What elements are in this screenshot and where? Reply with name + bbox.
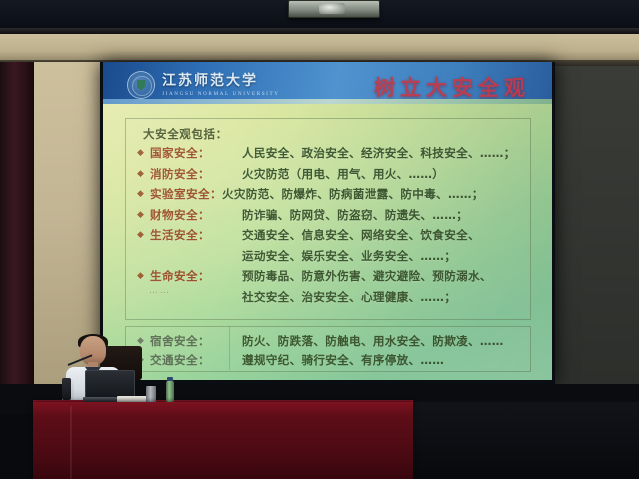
university-name-cn: 江苏师范大学 [162,74,280,89]
item-desc: 防诈骗、防网贷、防盗窃、防遗失、……； [242,206,468,225]
item-desc: 交通安全、信息安全、网络安全、饮食安全、 [242,226,480,245]
item-term: 国家安全： [150,144,242,163]
list-item: ◆ 国家安全： 人民安全、政治安全、经济安全、科技安全、……； [137,144,527,163]
list-item: ◆ 消防安全： 火灾防范（用电、用气、用火、……） [137,165,527,184]
diamond-bullet-icon: ◆ [137,185,150,204]
item-term: 交通安全： [150,351,242,370]
list-item: ◆ 生活安全： 交通安全、信息安全、网络安全、饮食安全、 [137,226,527,245]
item-term: 财物安全： [150,206,242,225]
slide-title: 树立大安全观 [374,72,530,102]
item-desc: 火灾防范（用电、用气、用火、……） [242,165,444,184]
list-item: ◆ 财物安全： 防诈骗、防网贷、防盗窃、防遗失、……； [137,206,527,225]
shield-icon [137,80,146,91]
right-wall-panel [555,66,639,406]
list-item-continuation: 运动安全、娱乐安全、业务安全、……； [137,247,527,266]
trailing-ellipsis: …… [149,286,171,296]
lecture-hall-photo: 江苏师范大学 JIANGSU NORMAL UNIVERSITY 树立大安全观 … [0,0,639,479]
diamond-bullet-icon: ◆ [137,144,150,163]
item-term: 消防安全： [150,165,242,184]
projected-slide: 江苏师范大学 JIANGSU NORMAL UNIVERSITY 树立大安全观 … [103,62,552,380]
university-emblem-icon [127,71,155,99]
slide-header-band: 江苏师范大学 JIANGSU NORMAL UNIVERSITY 树立大安全观 [103,62,552,104]
item-desc-cont: 运动安全、娱乐安全、业务安全、……； [242,247,456,266]
diamond-bullet-icon: ◆ [137,226,150,245]
slide-lead-text: 大安全观包括： [143,126,228,142]
item-desc-cont: 社交安全、治安安全、心理健康、……； [242,288,456,307]
upper-wall-band [0,34,639,62]
item-desc: 预防毒品、防意外伤害、避灾避险、预防溺水、 [242,267,492,286]
microphone-base [62,378,71,400]
item-desc: 遵规守纪、骑行安全、有序停放、…… [242,351,444,370]
left-curtain [0,62,34,414]
sub-safety-item-list: ◆ 宿舍安全： 防火、防跌落、防触电、用水安全、防欺凌、…… ◆ 交通安全： 遵… [137,332,527,370]
list-item-continuation: 社交安全、治安安全、心理健康、……； [137,288,527,307]
item-desc: 火灾防范、防爆炸、防病菌泄露、防中毒、……； [222,185,484,204]
list-item: ◆ 交通安全： 遵规守纪、骑行安全、有序停放、…… [137,351,527,370]
item-term: 生命安全： [150,267,242,286]
safety-item-list: ◆ 国家安全： 人民安全、政治安全、经济安全、科技安全、……； ◆ 消防安全： … [137,144,527,308]
tablecloth-fold [70,406,72,479]
university-name-en: JIANGSU NORMAL UNIVERSITY [162,91,280,97]
item-desc: 人民安全、政治安全、经济安全、科技安全、……； [242,144,516,163]
laptop-screen [85,370,135,399]
item-term: 生活安全： [150,226,242,245]
diamond-bullet-icon: ◆ [137,267,150,286]
diamond-bullet-icon: ◆ [137,165,150,184]
diamond-bullet-icon: ◆ [137,206,150,225]
item-term: 实验室安全： [150,185,222,204]
projection-screen-frame: 江苏师范大学 JIANGSU NORMAL UNIVERSITY 树立大安全观 … [100,62,555,384]
presenter-head [80,336,106,365]
floor-right [413,402,639,479]
item-desc: 防火、防跌落、防触电、用水安全、防欺凌、…… [242,332,504,351]
university-logo: 江苏师范大学 JIANGSU NORMAL UNIVERSITY [127,71,280,99]
speaker-table [33,402,413,479]
slide-body: 大安全观包括： ◆ 国家安全： 人民安全、政治安全、经济安全、科技安全、……； … [103,104,552,380]
list-item: ◆ 宿舍安全： 防火、防跌落、防触电、用水安全、防欺凌、…… [137,332,527,351]
list-item: ◆ 生命安全： 预防毒品、防意外伤害、避灾避险、预防溺水、 [137,267,527,286]
list-item: ◆ 实验室安全： 火灾防范、防爆炸、防病菌泄露、防中毒、……； [137,185,527,204]
item-term: 宿舍安全： [150,332,242,351]
ceiling-projector-icon [288,0,380,18]
